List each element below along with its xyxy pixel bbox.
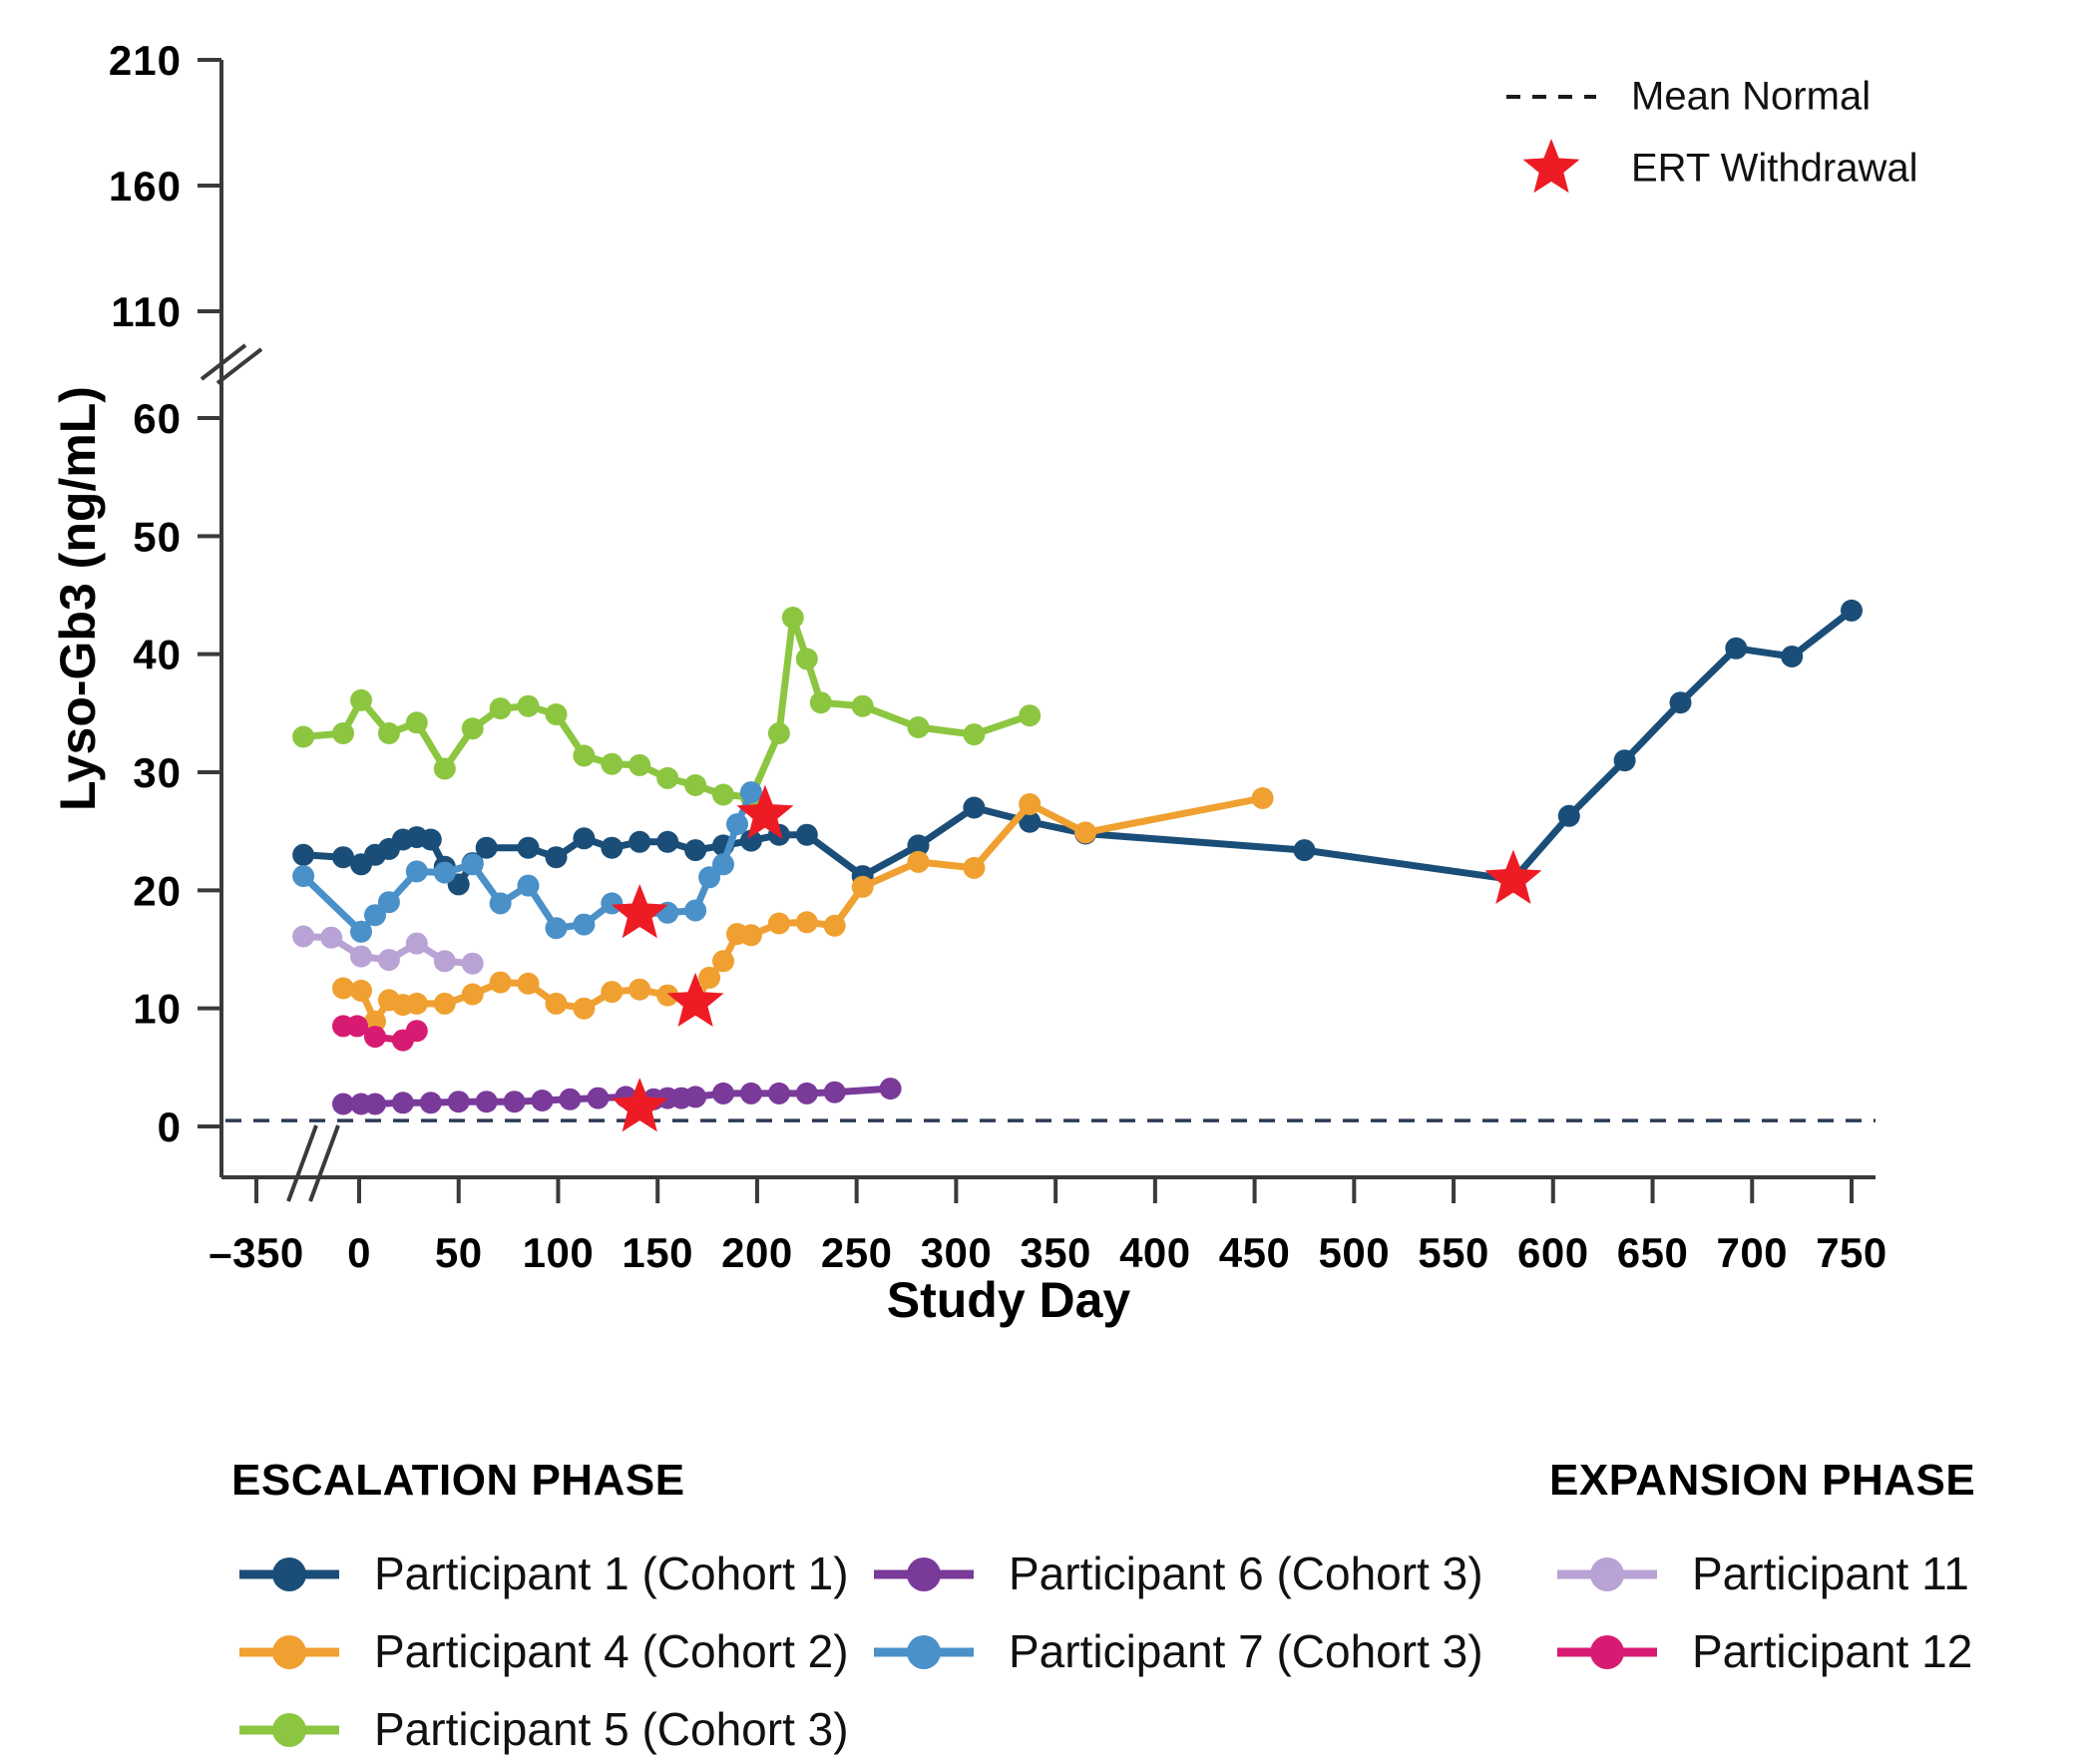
y-tick-label-10: 10 [133,986,182,1033]
chart-canvas: 0102030405060110160210–35005010015020025… [0,0,2093,1764]
data-point [546,993,568,1015]
data-point [1019,704,1041,726]
data-point [963,723,985,745]
legend-marker-icon [1590,1635,1624,1669]
data-point [656,767,678,789]
bottom-legend-item-1-2[interactable]: Participant 4 (Cohort 2) [239,1625,849,1677]
bottom-legend-label: Participant 5 (Cohort 3) [374,1703,849,1755]
bottom-legend-item-2-2[interactable]: Participant 7 (Cohort 3) [874,1625,1483,1677]
y-tick-label-160: 160 [109,163,182,210]
data-point [768,1083,790,1104]
data-point [490,972,512,994]
y-tick-label-30: 30 [133,749,182,796]
y-tick-label-50: 50 [133,513,182,560]
data-point [880,1078,902,1100]
data-point [462,717,484,739]
data-point [1841,600,1863,622]
data-point [768,913,790,935]
y-tick-label-40: 40 [133,632,182,678]
x-tick-label-200: 200 [721,1229,793,1276]
series-3[interactable] [292,607,1041,808]
bottom-legend-label: Participant 6 (Cohort 3) [1009,1547,1483,1599]
data-point [1781,646,1803,667]
top-legend-item-2[interactable]: ERT Withdrawal [1522,139,1917,193]
data-point [573,998,595,1020]
data-point [434,993,456,1015]
x-tick-label-600: 600 [1517,1229,1589,1276]
data-point [406,860,428,882]
data-point [740,924,762,946]
lyso-gb3-figure: 0102030405060110160210–35005010015020025… [0,0,2093,1764]
bottom-legend-label: Participant 12 [1692,1625,1972,1677]
data-point [601,753,623,775]
y-tick-label-110: 110 [111,288,182,335]
data-point [1252,787,1274,809]
data-point [824,1082,846,1103]
series-6[interactable] [292,926,484,975]
ert-withdrawal-star-4 [612,1078,668,1131]
data-point [518,875,540,897]
y-tick-label-210: 210 [109,37,182,84]
bottom-legend-item-2-1[interactable]: Participant 6 (Cohort 3) [874,1547,1483,1599]
data-point [824,915,846,937]
data-point [908,851,930,873]
bottom-legend[interactable]: ESCALATION PHASEParticipant 1 (Cohort 1)… [231,1456,1975,1755]
data-point [796,648,818,669]
data-point [712,784,734,806]
data-point [573,914,595,936]
data-point [406,1020,428,1042]
bottom-legend-column-1: ESCALATION PHASEParticipant 1 (Cohort 1)… [231,1456,849,1755]
data-point [292,865,314,887]
data-point [448,1091,470,1112]
bottom-legend-label: Participant 11 [1692,1547,1969,1599]
bottom-legend-item-1-3[interactable]: Participant 5 (Cohort 3) [239,1703,849,1755]
data-point [420,1092,442,1113]
data-point [573,744,595,766]
x-tick-label-100: 100 [523,1229,595,1276]
data-point [852,695,874,717]
bottom-legend-item-3-1[interactable]: Participant 11 [1557,1547,1969,1599]
data-point [462,953,484,975]
x-tick-label-700: 700 [1716,1229,1788,1276]
data-point [532,1090,554,1111]
data-point [684,1086,706,1107]
data-point [462,853,484,875]
axis-titles: Study DayLyso-Gb3 (ng/mL) [50,386,1130,1328]
y-axis-break-mark-2 [217,349,261,383]
data-point [740,1083,762,1104]
series-2[interactable] [332,787,1274,1033]
bottom-legend-heading: EXPANSION PHASE [1549,1456,1975,1505]
data-point [350,980,372,1002]
data-point [1074,821,1096,843]
data-point [628,754,650,776]
x-tick-label-750: 750 [1816,1229,1887,1276]
data-point [1670,691,1692,713]
data-point [573,827,595,849]
data-point [462,984,484,1006]
data-point [712,1083,734,1104]
data-point [712,950,734,972]
legend-marker-icon [272,1635,306,1669]
data-point [378,949,400,971]
x-tick-label-450: 450 [1219,1229,1291,1276]
x-tick-label-500: 500 [1319,1229,1391,1276]
data-point [684,839,706,861]
x-axis-break-mark-1 [288,1125,316,1201]
data-point [559,1089,581,1110]
data-point [364,1094,386,1115]
y-tick-label-0: 0 [158,1103,182,1150]
data-point [712,853,734,875]
data-point [1614,749,1636,771]
data-point [490,697,512,719]
top-legend-label: Mean Normal [1631,75,1871,119]
data-point [292,844,314,866]
data-point [546,917,568,939]
data-point [796,824,818,846]
data-point [350,689,372,711]
top-legend-item-1[interactable]: Mean Normal [1506,75,1871,119]
data-point [332,722,354,744]
data-point [684,774,706,796]
data-point [1294,839,1316,861]
data-point [392,1092,414,1113]
bottom-legend-label: Participant 7 (Cohort 3) [1009,1625,1483,1677]
ert-withdrawal-star-5 [612,884,668,938]
legend-marker-icon [907,1635,941,1669]
x-tick-label-550: 550 [1418,1229,1489,1276]
data-point [364,1026,386,1048]
bottom-legend-item-3-2[interactable]: Participant 12 [1557,1625,1972,1677]
data-point [810,691,832,713]
data-point [768,722,790,744]
bottom-legend-label: Participant 4 (Cohort 2) [374,1625,849,1677]
top-legend[interactable]: Mean NormalERT Withdrawal [1506,75,1918,194]
x-tick-label-0: 0 [347,1229,371,1276]
data-point [406,933,428,955]
y-tick-label-20: 20 [133,867,182,914]
data-point [518,837,540,859]
top-legend-label: ERT Withdrawal [1631,147,1918,191]
data-point [908,716,930,738]
data-point [1019,793,1041,815]
data-point [490,892,512,914]
data-point [1725,638,1747,660]
data-point [434,862,456,884]
data-point [601,837,623,859]
legend-marker-icon [1590,1557,1624,1591]
data-point [628,979,650,1001]
y-axis-title: Lyso-Gb3 (ng/mL) [50,386,106,811]
data-point [406,993,428,1015]
data-point [476,1091,498,1112]
data-point [320,927,342,949]
bottom-legend-column-2: Participant 6 (Cohort 3)Participant 7 (C… [874,1547,1483,1677]
data-point [963,857,985,879]
series-layer [292,600,1863,1118]
data-point [434,758,456,780]
axes-layer: 0102030405060110160210–35005010015020025… [109,37,1887,1276]
data-point [796,911,818,933]
data-point [292,926,314,948]
x-tick-label-350: 350 [1020,1229,1091,1276]
bottom-legend-item-1-1[interactable]: Participant 1 (Cohort 1) [239,1547,849,1599]
bottom-legend-column-3: EXPANSION PHASEParticipant 11Participant… [1549,1456,1975,1677]
data-point [740,781,762,803]
x-tick-label-150: 150 [622,1229,693,1276]
data-point [796,1083,818,1104]
data-point [782,607,804,629]
x-tick-label-300: 300 [921,1229,993,1276]
data-point [378,722,400,744]
y-tick-label-60: 60 [133,395,182,442]
data-point [420,829,442,851]
data-point [406,711,428,733]
star-icon [1522,139,1579,193]
data-point [292,726,314,748]
data-point [378,891,400,913]
legend-marker-icon [272,1557,306,1591]
x-axis-title: Study Day [887,1272,1131,1328]
data-point [601,981,623,1003]
x-tick-label-650: 650 [1617,1229,1689,1276]
data-point [434,950,456,972]
data-point [504,1091,526,1112]
series-1[interactable] [292,600,1863,896]
data-point [963,797,985,819]
data-point [656,831,678,853]
data-point [518,973,540,995]
bottom-legend-heading: ESCALATION PHASE [231,1456,685,1505]
x-tick-label--350: –350 [209,1229,303,1276]
data-point [518,695,540,717]
data-point [628,831,650,853]
x-axis-break-mark-2 [310,1125,338,1201]
legend-marker-icon [272,1713,306,1747]
bottom-legend-label: Participant 1 (Cohort 1) [374,1547,849,1599]
data-point [684,900,706,922]
data-point [546,846,568,868]
data-point [726,813,748,835]
data-point [350,946,372,968]
data-point [546,703,568,725]
x-tick-label-250: 250 [821,1229,893,1276]
x-tick-label-50: 50 [435,1229,483,1276]
x-tick-label-400: 400 [1119,1229,1191,1276]
data-point [1558,805,1580,827]
data-point [852,876,874,898]
data-point [587,1088,609,1109]
legend-marker-icon [907,1557,941,1591]
